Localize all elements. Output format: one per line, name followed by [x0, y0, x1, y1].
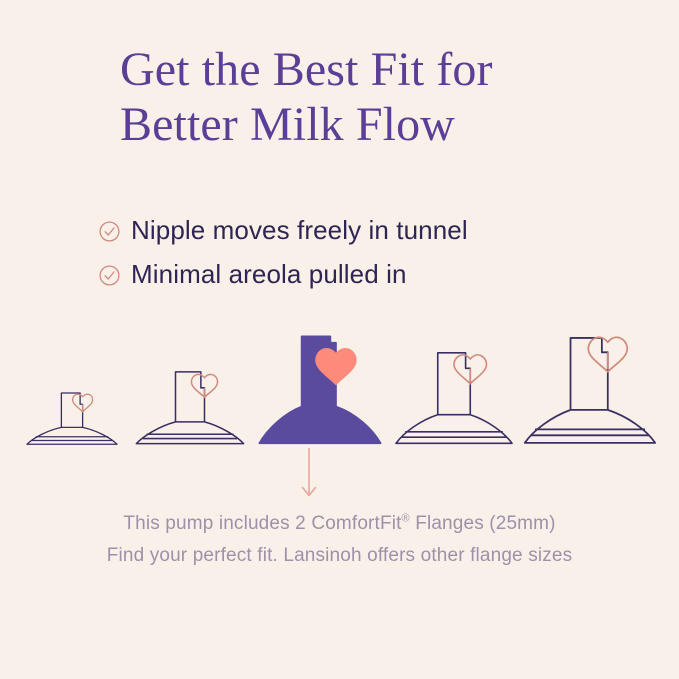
infographic-panel: Get the Best Fit for Better Milk Flow Ni… — [0, 0, 679, 679]
list-item: Minimal areola pulled in — [99, 252, 619, 296]
footer-line-1-suffix: Flanges (25mm) — [410, 513, 556, 534]
circle-check-icon — [99, 265, 120, 286]
circle-check-icon — [99, 221, 120, 242]
footer-line-2: Find your perfect fit. Lansinoh offers o… — [0, 540, 679, 572]
list-item-label: Nipple moves freely in tunnel — [131, 215, 468, 245]
footer-line-1: This pump includes 2 ComfortFit® Flanges… — [0, 508, 679, 540]
page-title: Get the Best Fit for Better Milk Flow — [120, 42, 600, 152]
flange-size-5[interactable] — [522, 332, 658, 448]
headline-line-2: Better Milk Flow — [120, 97, 600, 152]
footer-note: This pump includes 2 ComfortFit® Flanges… — [0, 508, 679, 572]
list-item: Nipple moves freely in tunnel — [99, 208, 619, 252]
flange-size-3-comfortfit-25mm[interactable] — [256, 330, 384, 448]
flange-size-4[interactable] — [392, 342, 516, 448]
headline-line-1: Get the Best Fit for — [120, 42, 600, 97]
registered-mark: ® — [402, 513, 410, 525]
flange-size-row — [0, 322, 679, 448]
flange-size-2[interactable] — [132, 353, 248, 448]
benefits-list: Nipple moves freely in tunnel Minimal ar… — [99, 208, 619, 296]
footer-line-2-prefix: Find your perfect fit. Lansinoh offers o… — [107, 545, 573, 566]
footer-line-1-prefix: This pump includes 2 ComfortFit — [123, 513, 401, 534]
list-item-label: Minimal areola pulled in — [131, 259, 407, 289]
flange-size-1[interactable] — [22, 368, 122, 448]
down-arrow-icon — [297, 448, 321, 500]
